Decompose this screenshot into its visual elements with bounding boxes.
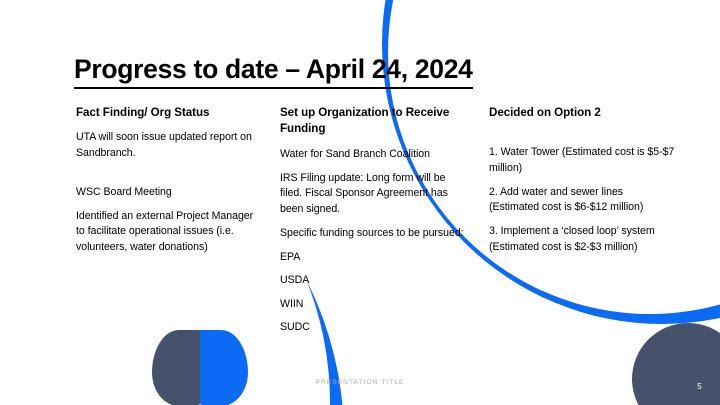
column-heading: Fact Finding/ Org Status — [76, 105, 258, 121]
column-heading: Decided on Option 2 — [489, 105, 676, 121]
footer-presentation-title: PRESENTATION TITLE — [0, 379, 720, 386]
column-paragraph: Identified an external Project Manager t… — [76, 209, 258, 255]
page-title: Progress to date – April 24, 2024 — [74, 56, 473, 89]
column-heading: Set up Organization to Receive Funding — [280, 105, 467, 138]
column-paragraph-spacer — [76, 170, 258, 185]
column-paragraph: 3. Implement a ‘closed loop’ system (Est… — [489, 224, 676, 255]
column-paragraph: 1. Water Tower (Estimated cost is $5-$7 … — [489, 145, 676, 176]
column-paragraph: WIIN — [280, 297, 467, 312]
content-columns: Fact Finding/ Org Status UTA will soon i… — [76, 105, 686, 343]
column-paragraph: UTA will soon issue updated report on Sa… — [76, 130, 258, 161]
column-paragraph: USDA — [280, 273, 467, 288]
column-paragraph: Water for Sand Branch Coalition — [280, 147, 467, 162]
column-paragraph: 2. Add water and sewer lines (Estimated … — [489, 185, 676, 216]
column-paragraph: Specific funding sources to be pursued: — [280, 226, 467, 241]
column-paragraph: IRS Filing update: Long form will be fil… — [280, 171, 467, 217]
column-paragraph: EPA — [280, 250, 467, 265]
slide: 5 Progress to date – April 24, 2024 Fact… — [0, 0, 720, 405]
column-paragraph: WSC Board Meeting — [76, 185, 258, 200]
column-paragraph: SUDC — [280, 320, 467, 335]
content-column-decided-on-option-2: Decided on Option 2 1. Water Tower (Esti… — [489, 105, 686, 343]
column-paragraph-spacer — [489, 130, 676, 145]
content-column-fact-finding: Fact Finding/ Org Status UTA will soon i… — [76, 105, 280, 343]
content-column-set-up-organization: Set up Organization to Receive Funding W… — [280, 105, 489, 343]
